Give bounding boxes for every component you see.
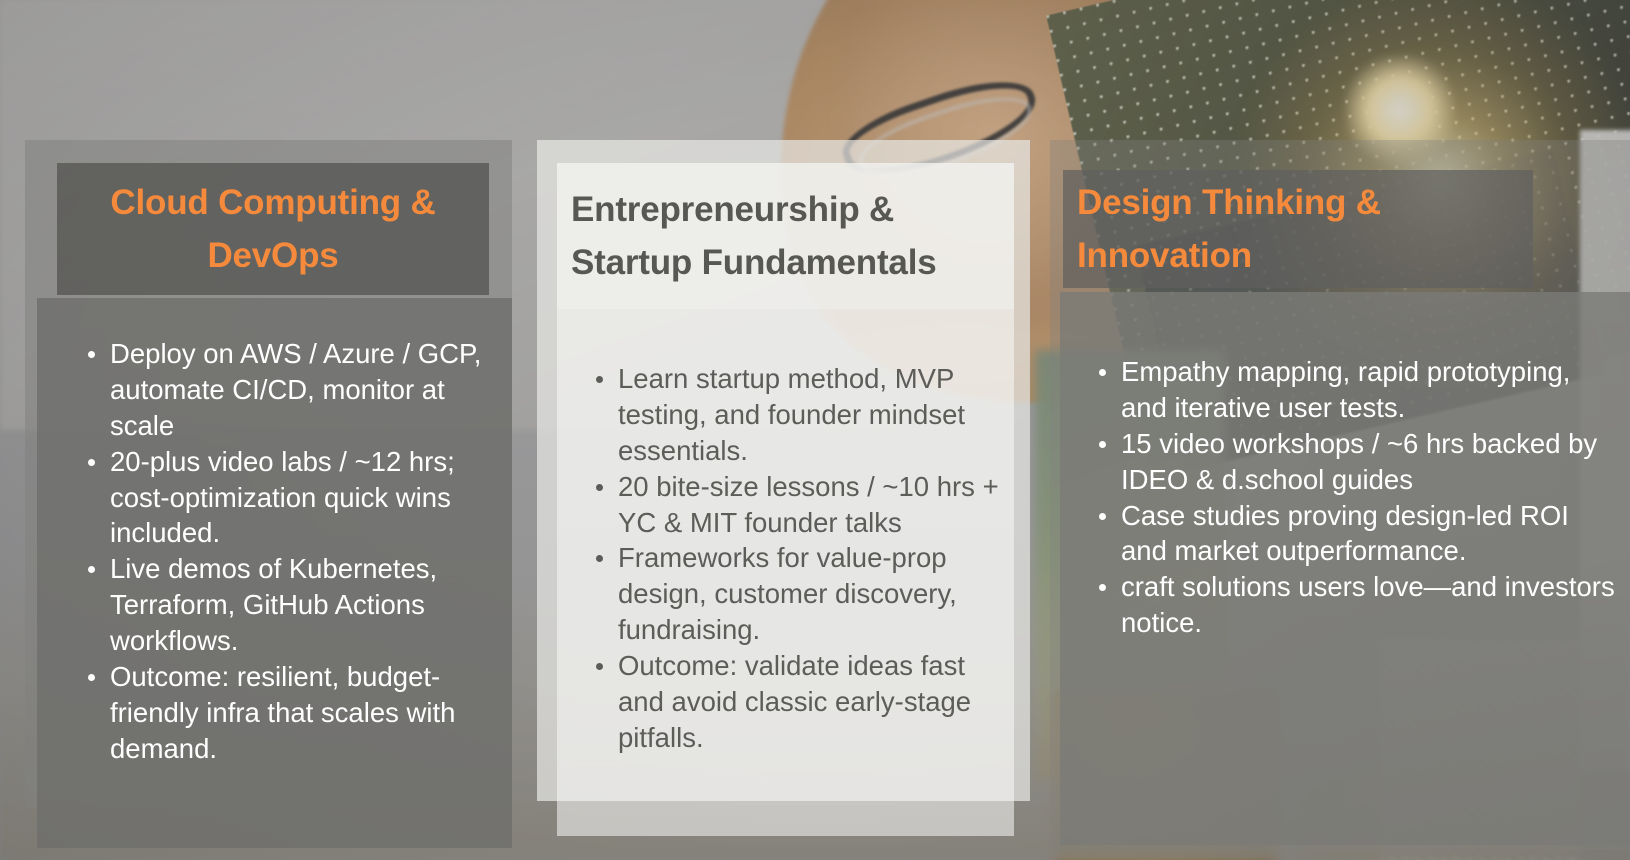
list-item: Live demos of Kubernetes, Terraform, Git… <box>79 551 492 659</box>
list-item: Frameworks for value-prop design, custom… <box>587 540 1014 648</box>
bullet-list-design-thinking-innovation: Empathy mapping, rapid prototyping, and … <box>1060 292 1630 641</box>
list-item: Learn startup method, MVP testing, and f… <box>587 361 1014 469</box>
list-item: Outcome: resilient, budget-friendly infr… <box>79 659 492 767</box>
list-item: 20-plus video labs / ~12 hrs; cost-optim… <box>79 444 492 552</box>
card-title-entrepreneurship-startup-fundamentals: Entrepreneurship & Startup Fundamentals <box>571 183 1000 289</box>
list-item: 15 video workshops / ~6 hrs backed by ID… <box>1090 426 1616 498</box>
card-title-design-thinking-innovation: Design Thinking & Innovation <box>1077 176 1519 282</box>
card-title-cloud-computing-devops: Cloud Computing & DevOps <box>71 176 475 282</box>
slide: Cloud Computing & DevOps Deploy on AWS /… <box>0 0 1630 860</box>
list-item: Empathy mapping, rapid prototyping, and … <box>1090 354 1616 426</box>
card-title-box-entrepreneurship-startup-fundamentals: Entrepreneurship & Startup Fundamentals <box>557 163 1014 309</box>
list-item: Deploy on AWS / Azure / GCP, automate CI… <box>79 336 492 444</box>
bullet-list-cloud-computing-devops: Deploy on AWS / Azure / GCP, automate CI… <box>37 298 512 767</box>
card-body-design-thinking-innovation: Empathy mapping, rapid prototyping, and … <box>1060 292 1630 845</box>
list-item: Case studies proving design-led ROI and … <box>1090 498 1616 570</box>
bullet-list-entrepreneurship-startup-fundamentals: Learn startup method, MVP testing, and f… <box>557 309 1014 756</box>
list-item: 20 bite-size lessons / ~10 hrs + YC & MI… <box>587 469 1014 541</box>
card-title-box-cloud-computing-devops: Cloud Computing & DevOps <box>57 163 489 295</box>
card-body-entrepreneurship-startup-fundamentals: Learn startup method, MVP testing, and f… <box>557 309 1014 836</box>
card-body-cloud-computing-devops: Deploy on AWS / Azure / GCP, automate CI… <box>37 298 512 848</box>
list-item: craft solutions users love—and investors… <box>1090 569 1616 641</box>
list-item: Outcome: validate ideas fast and avoid c… <box>587 648 1014 756</box>
card-title-box-design-thinking-innovation: Design Thinking & Innovation <box>1063 170 1533 288</box>
